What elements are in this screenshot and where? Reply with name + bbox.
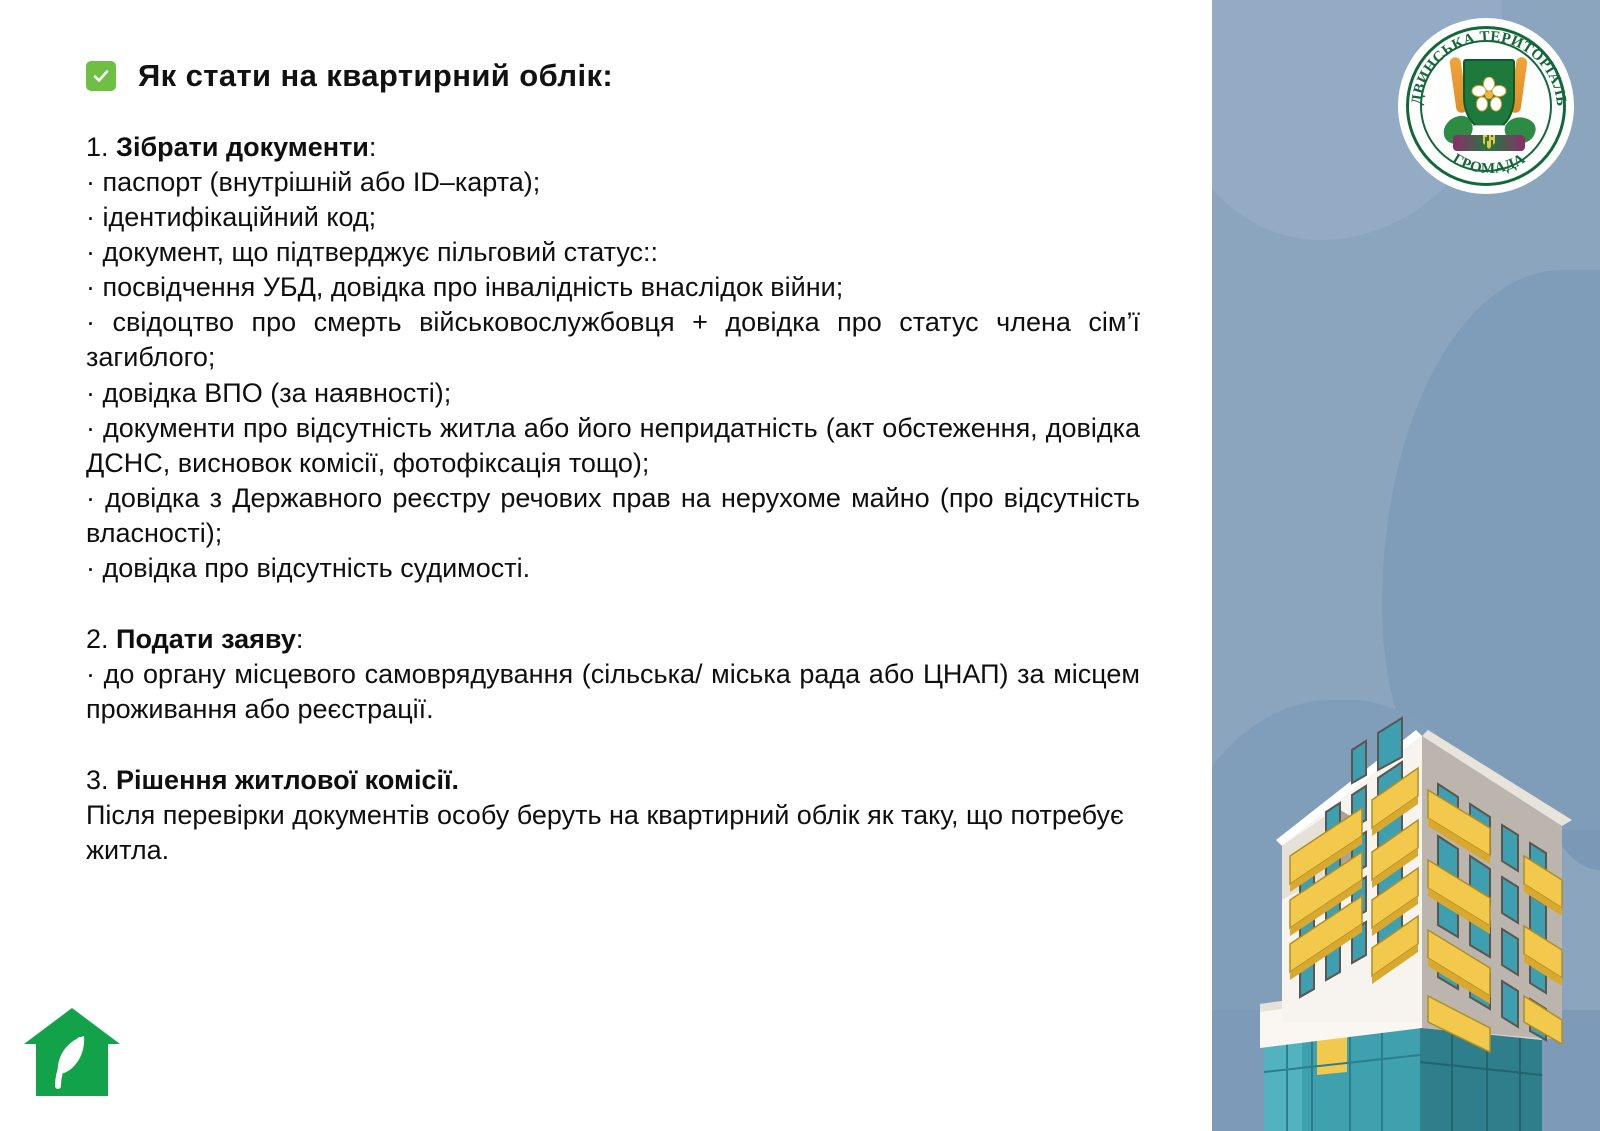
emblem-flower-icon bbox=[1471, 77, 1507, 113]
step-2-bullet-1: · до органу місцевого самоврядування (сі… bbox=[86, 657, 1140, 727]
step-1-bullet-6: · довідка ВПО (за наявності); bbox=[86, 376, 1140, 411]
step-1-bullet-5: · свідоцтво про смерть військовослужбовц… bbox=[86, 305, 1140, 375]
step-1-bullet-3: · документ, що підтверджує пільговий ста… bbox=[86, 235, 1140, 270]
medvyn-hromada-emblem: МЕДВИНСЬКА ТЕРИТОРІАЛЬНА ГРОМАДА bbox=[1398, 18, 1574, 194]
step-1-bullet-7: · документи про відсутність житла або йо… bbox=[86, 411, 1140, 481]
step-2-number: 2. bbox=[86, 624, 109, 654]
green-house-leaf-logo bbox=[22, 1000, 122, 1100]
step-1-bullet-1: · паспорт (внутрішній або ID–карта); bbox=[86, 165, 1140, 200]
step-1-label: Зібрати документи bbox=[116, 132, 369, 162]
step-1-bullet-9: · довідка про відсутність судимості. bbox=[86, 551, 1140, 586]
step-1-bullet-8: · довідка з Державного реєстру речових п… bbox=[86, 481, 1140, 551]
page-title: Як стати на квартирний облік: bbox=[138, 58, 613, 94]
step-1-title: 1. Зібрати документи: bbox=[86, 132, 1140, 163]
content-area: Як стати на квартирний облік: 1. Зібрати… bbox=[0, 0, 1212, 1131]
step-1-colon: : bbox=[369, 132, 377, 162]
step-1-bullet-4: · посвідчення УБД, довідка про інвалідні… bbox=[86, 270, 1140, 305]
check-icon bbox=[86, 61, 116, 91]
slide-heading: Як стати на квартирний облік: bbox=[86, 58, 1140, 94]
svg-text:ГРОМАДА: ГРОМАДА bbox=[1450, 151, 1529, 177]
spacer-2 bbox=[86, 727, 1140, 761]
right-decorative-panel: МЕДВИНСЬКА ТЕРИТОРІАЛЬНА ГРОМАДА bbox=[1212, 0, 1600, 1131]
step-2-colon: : bbox=[296, 624, 304, 654]
step-1-bullet-2: · ідентифікаційний код; bbox=[86, 200, 1140, 235]
step-3-label: Рішення житлової комісії. bbox=[116, 765, 459, 795]
slide-root: МЕДВИНСЬКА ТЕРИТОРІАЛЬНА ГРОМАДА bbox=[0, 0, 1600, 1131]
step-3-title: 3. Рішення житлової комісії. bbox=[86, 765, 1140, 796]
spacer-1 bbox=[86, 586, 1140, 620]
emblem-trident-icon bbox=[1481, 133, 1497, 153]
step-3-body: Після перевірки документів особу беруть … bbox=[86, 798, 1140, 868]
step-3-number: 3. bbox=[86, 765, 109, 795]
step-2-title: 2. Подати заяву: bbox=[86, 624, 1140, 655]
step-2-label: Подати заяву bbox=[116, 624, 296, 654]
step-1-number: 1. bbox=[86, 132, 109, 162]
